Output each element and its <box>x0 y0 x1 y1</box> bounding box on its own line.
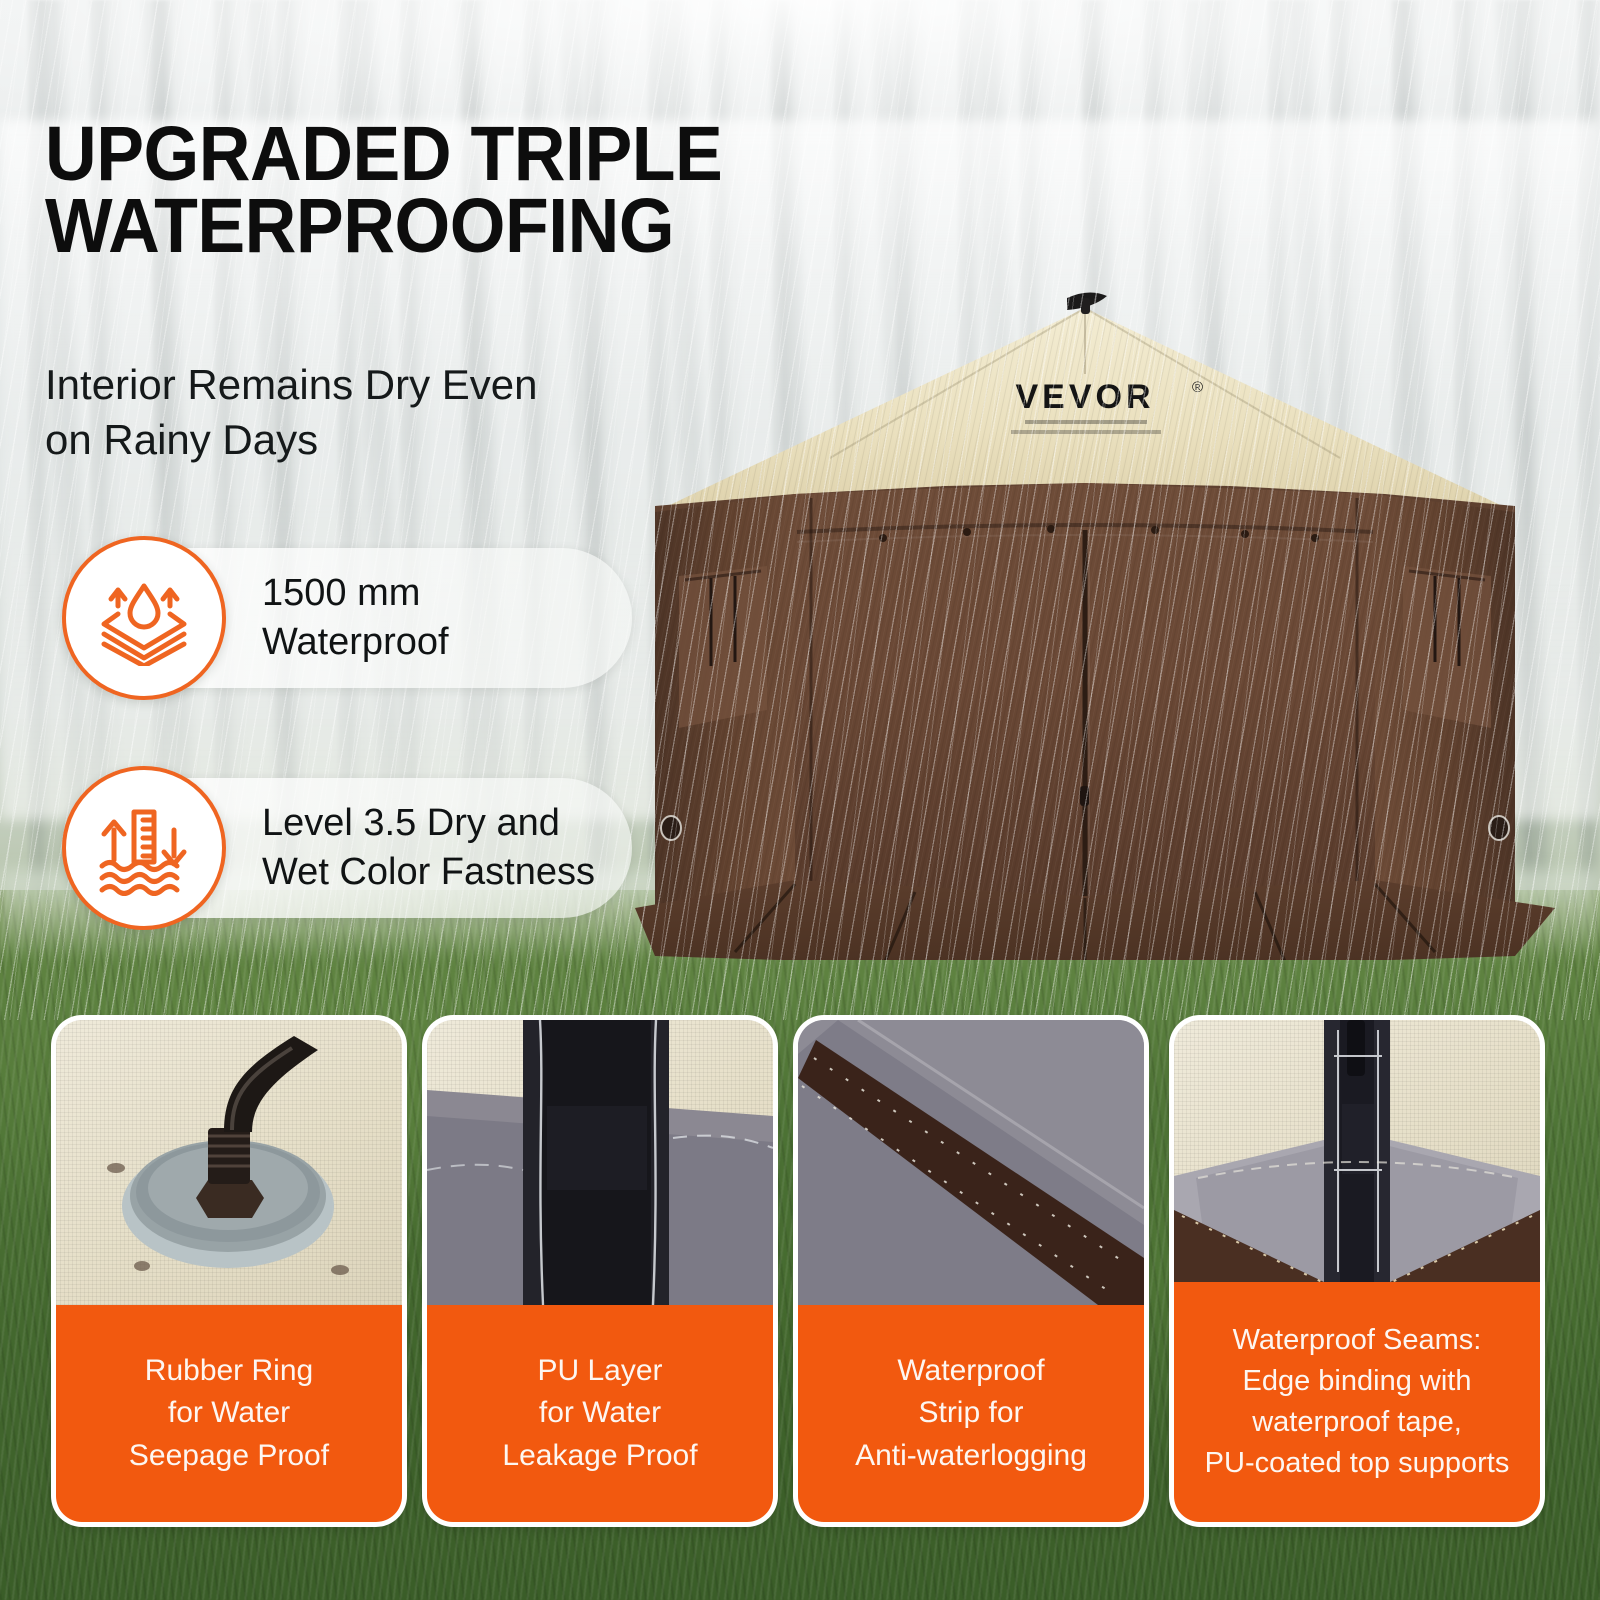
svg-text:®: ® <box>1192 379 1203 396</box>
detail-card-1-caption: Rubber Ring for Water Seepage Proof <box>56 1305 402 1522</box>
card-4-caption-line-3: waterproof tape, <box>1205 1402 1510 1443</box>
tent-top-knob <box>1067 292 1107 314</box>
tent-pocket-right <box>1403 566 1491 728</box>
detail-card-waterproof-strip: Waterproof Strip for Anti-waterlogging <box>798 1020 1144 1522</box>
infographic-stage: VEVOR ® UPGRADED TRIPLE WATERPROOFING In… <box>0 0 1600 1600</box>
card-1-caption-line-2: for Water <box>129 1392 329 1435</box>
svg-text:VEVOR: VEVOR <box>1015 378 1154 416</box>
card-3-caption-line-3: Anti-waterlogging <box>855 1435 1087 1478</box>
feature-2-line-2: Wet Color Fastness <box>262 848 595 897</box>
feature-pill-waterproof: 1500 mm Waterproof <box>112 548 632 688</box>
waterproof-seams-pole-photo <box>1174 1020 1540 1282</box>
card-3-caption-line-2: Strip for <box>855 1392 1087 1435</box>
product-tent-image: VEVOR ® <box>615 280 1575 960</box>
detail-card-waterproof-seams: Waterproof Seams: Edge binding with wate… <box>1174 1020 1540 1522</box>
feature-2-line-1: Level 3.5 Dry and <box>262 799 595 848</box>
card-2-caption-line-2: for Water <box>502 1392 697 1435</box>
detail-cards-row: Rubber Ring for Water Seepage Proof <box>0 1020 1600 1540</box>
feature-1-line-1: 1500 mm <box>262 569 449 618</box>
card-1-caption-line-3: Seepage Proof <box>129 1435 329 1478</box>
feature-pill-color-fastness: Level 3.5 Dry and Wet Color Fastness <box>112 778 632 918</box>
card-4-caption-line-4: PU-coated top supports <box>1205 1443 1510 1484</box>
headline-line-2: WATERPROOFING <box>45 190 817 262</box>
card-1-caption-line-1: Rubber Ring <box>129 1350 329 1393</box>
subtitle-line-2: on Rainy Days <box>45 413 705 468</box>
feature-pill-color-fastness-text: Level 3.5 Dry and Wet Color Fastness <box>262 799 595 896</box>
page-subtitle: Interior Remains Dry Even on Rainy Days <box>45 358 705 467</box>
feature-1-line-2: Waterproof <box>262 618 449 667</box>
card-4-caption-line-1: Waterproof Seams: <box>1205 1320 1510 1361</box>
card-4-caption-line-2: Edge binding with <box>1205 1361 1510 1402</box>
color-fastness-gauge-icon <box>62 766 226 930</box>
tent-pocket-left <box>679 566 767 728</box>
card-2-caption-line-3: Leakage Proof <box>502 1435 697 1478</box>
water-droplet-layers-icon <box>62 536 226 700</box>
card-3-caption-line-1: Waterproof <box>855 1350 1087 1393</box>
detail-card-4-caption: Waterproof Seams: Edge binding with wate… <box>1174 1282 1540 1522</box>
detail-card-2-caption: PU Layer for Water Leakage Proof <box>427 1305 773 1522</box>
card-2-caption-line-1: PU Layer <box>502 1350 697 1393</box>
waterproof-strip-photo <box>798 1020 1144 1305</box>
detail-card-rubber-ring: Rubber Ring for Water Seepage Proof <box>56 1020 402 1522</box>
page-title: UPGRADED TRIPLE WATERPROOFING <box>45 118 817 263</box>
pu-layer-seam-photo <box>427 1020 773 1305</box>
detail-card-3-caption: Waterproof Strip for Anti-waterlogging <box>798 1305 1144 1522</box>
feature-pill-waterproof-text: 1500 mm Waterproof <box>262 569 449 666</box>
rubber-ring-grommet-photo <box>56 1020 402 1305</box>
subtitle-line-1: Interior Remains Dry Even <box>45 358 705 413</box>
detail-card-pu-layer: PU Layer for Water Leakage Proof <box>427 1020 773 1522</box>
